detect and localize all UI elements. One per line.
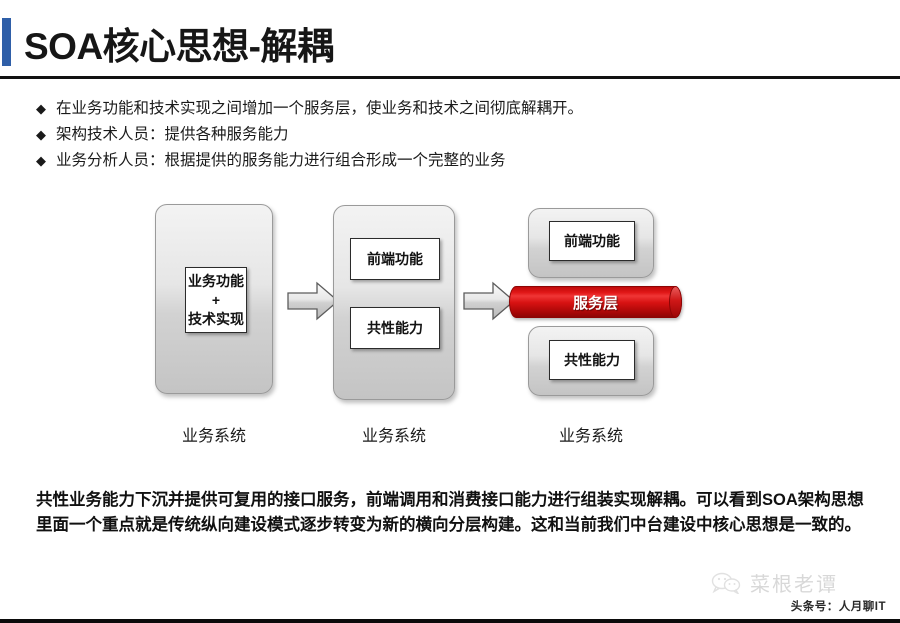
- system-box-1: 业务功能+ 技术实现: [155, 204, 273, 394]
- cylinder-cap: [669, 286, 682, 318]
- column-label-3: 业务系统: [528, 422, 654, 446]
- block-frontend-function: 前端功能: [350, 238, 440, 280]
- block-business-function-tech: 业务功能+ 技术实现: [185, 267, 247, 333]
- service-layer-label: 服务层: [573, 292, 618, 313]
- wechat-icon: [711, 572, 741, 594]
- watermark: 菜根老谭: [711, 568, 838, 597]
- column-label-2: 业务系统: [333, 422, 455, 446]
- block-common-capability: 共性能力: [350, 307, 440, 349]
- watermark-text: 菜根老谭: [750, 568, 838, 597]
- system-box-3-top: 前端功能: [528, 208, 654, 278]
- arrow-right-icon: [463, 281, 515, 321]
- block-line-2: 技术实现: [188, 310, 244, 329]
- system-box-2: 前端功能 共性能力: [333, 205, 455, 400]
- service-layer-cylinder: 服务层: [509, 286, 682, 318]
- column-label-1: 业务系统: [155, 422, 273, 446]
- block-frontend-function: 前端功能: [549, 221, 635, 261]
- slide-root: SOA核心思想-解耦 ◆ 在业务功能和技术实现之间增加一个服务层，使业务和技术之…: [0, 0, 900, 623]
- arrow-right-icon: [287, 281, 339, 321]
- summary-paragraph: 共性业务能力下沉并提供可复用的接口服务，前端调用和消费接口能力进行组装实现解耦。…: [36, 488, 864, 538]
- system-box-3-bottom: 共性能力: [528, 326, 654, 396]
- footer-note: 头条号：人月聊IT: [791, 598, 886, 614]
- block-line-1: 业务功能+: [186, 272, 246, 310]
- bottom-blue-marker: [730, 619, 900, 623]
- soa-decoupling-diagram: 业务功能+ 技术实现 业务系统 前端功能 共: [0, 0, 900, 460]
- block-common-capability: 共性能力: [549, 340, 635, 380]
